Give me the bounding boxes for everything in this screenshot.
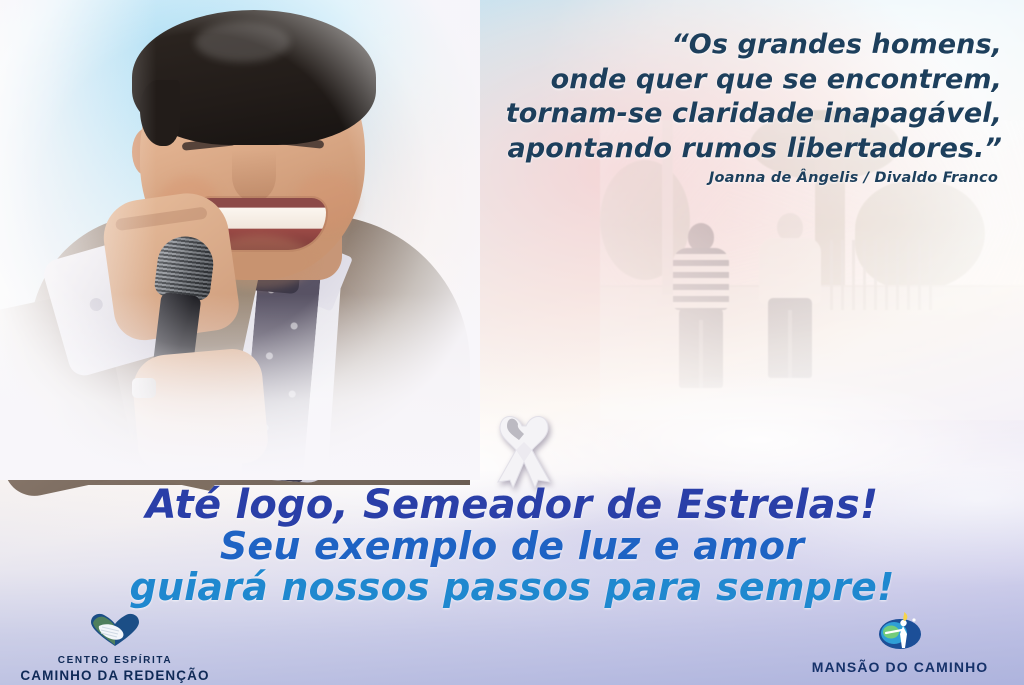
globe-with-figure-and-flame-icon	[790, 612, 1010, 656]
logo-left-line-2: CAMINHO DA REDENÇÃO	[10, 668, 220, 684]
quote-line-3: tornam-se claridade inapagável,	[382, 97, 1002, 132]
microphone-grille	[153, 233, 216, 301]
logo-left-line-1: CENTRO ESPÍRITA	[10, 655, 220, 668]
logo-centro-espirita: CENTRO ESPÍRITA CAMINHO DA REDENÇÃO	[10, 612, 220, 684]
headline-line-3: guiará nossos passos para sempre!	[0, 567, 1024, 608]
quote-attribution: Joanna de Ângelis / Divaldo Franco	[378, 170, 998, 186]
nose	[232, 150, 276, 202]
quote-text-block: “Os grandes homens, onde quer que se enc…	[382, 28, 1002, 166]
fingers-gripping-microphone	[130, 347, 270, 473]
knuckles	[115, 206, 208, 231]
headline-line-1: Até logo, Semeador de Estrelas!	[0, 484, 1024, 526]
ring	[132, 378, 156, 398]
hair-highlight	[195, 22, 290, 62]
headline-block: Até logo, Semeador de Estrelas! Seu exem…	[0, 484, 1024, 608]
cuff-button	[88, 296, 104, 312]
white-ribbon-icon	[486, 408, 558, 488]
quote-line-2: onde quer que se encontrem,	[382, 63, 1002, 98]
headline-line-2: Seu exemplo de luz e amor	[0, 526, 1024, 567]
heart-with-hands-icon	[10, 612, 220, 652]
logo-mansao-do-caminho: MANSÃO DO CAMINHO	[790, 612, 1010, 676]
quote-line-4: apontando rumos libertadores.”	[382, 132, 1002, 167]
quote-line-1: “Os grandes homens,	[382, 28, 1002, 63]
poster-canvas: “Os grandes homens, onde quer que se enc…	[0, 0, 1024, 685]
logo-right-line-1: MANSÃO DO CAMINHO	[790, 659, 1010, 676]
